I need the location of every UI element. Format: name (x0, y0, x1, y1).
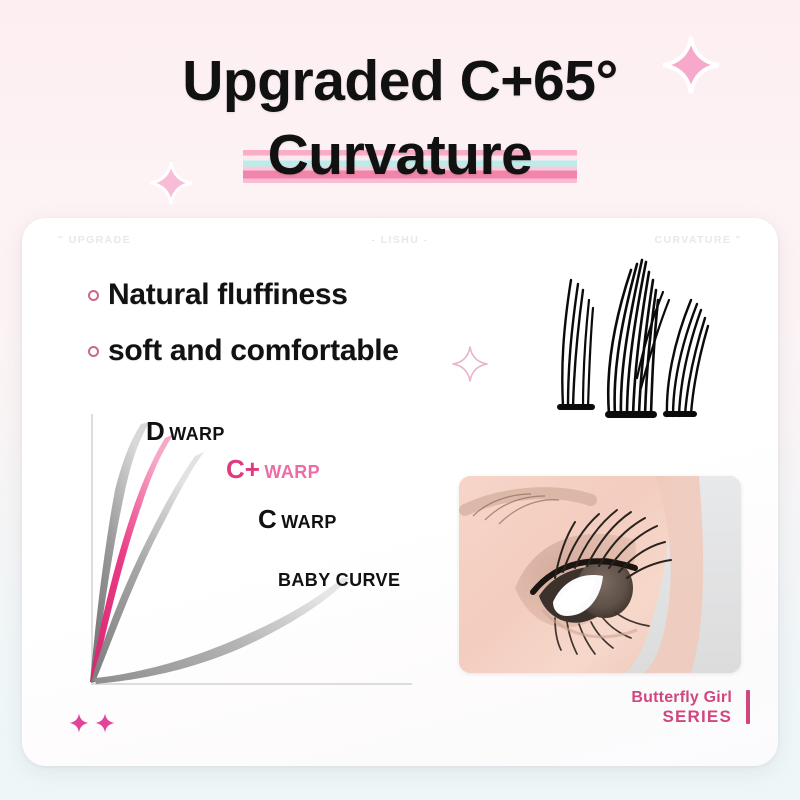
chart-label-c-warp: C WARP (258, 504, 337, 535)
eye-closeup-image (459, 476, 741, 673)
bullet-circle-icon (88, 346, 99, 357)
page-title-line-2: Curvature (0, 124, 800, 186)
brand-signature: Butterfly Girl SERIES (631, 688, 732, 726)
brand-accent-bar (746, 690, 750, 724)
header: Upgraded C+65° Curvature (0, 0, 800, 205)
content-card: " UPGRADE - LISHU - CURVATURE " Natural … (22, 218, 778, 766)
chart-label-d-warp: D WARP (146, 416, 225, 447)
feature-label-1: Natural fluffiness (108, 278, 348, 312)
feature-label-2: soft and comfortable (108, 334, 399, 368)
sparkle-icon-feature (450, 344, 490, 384)
promo-graphic: Upgraded C+65° Curvature " UPGRADE - LIS… (0, 0, 800, 800)
chart-label-baby-curve: BABY CURVE (278, 570, 400, 591)
feature-list: Natural fluffiness soft and comfortable (88, 278, 399, 390)
brand-name: Butterfly Girl (631, 688, 732, 707)
brand-series: SERIES (631, 707, 732, 726)
bullet-circle-icon (88, 290, 99, 301)
chart-curve-c-plus-warp (90, 434, 174, 682)
chart-label-c-plus-warp: C+ WARP (226, 454, 320, 485)
list-item: soft and comfortable (88, 334, 399, 368)
curvature-chart: D WARP C+ WARP C WARP BABY CURVE (78, 408, 423, 718)
lash-fan-image (527, 238, 757, 423)
chart-curve-baby (94, 578, 350, 684)
list-item: Natural fluffiness (88, 278, 399, 312)
page-title-line-1: Upgraded C+65° (0, 50, 800, 112)
